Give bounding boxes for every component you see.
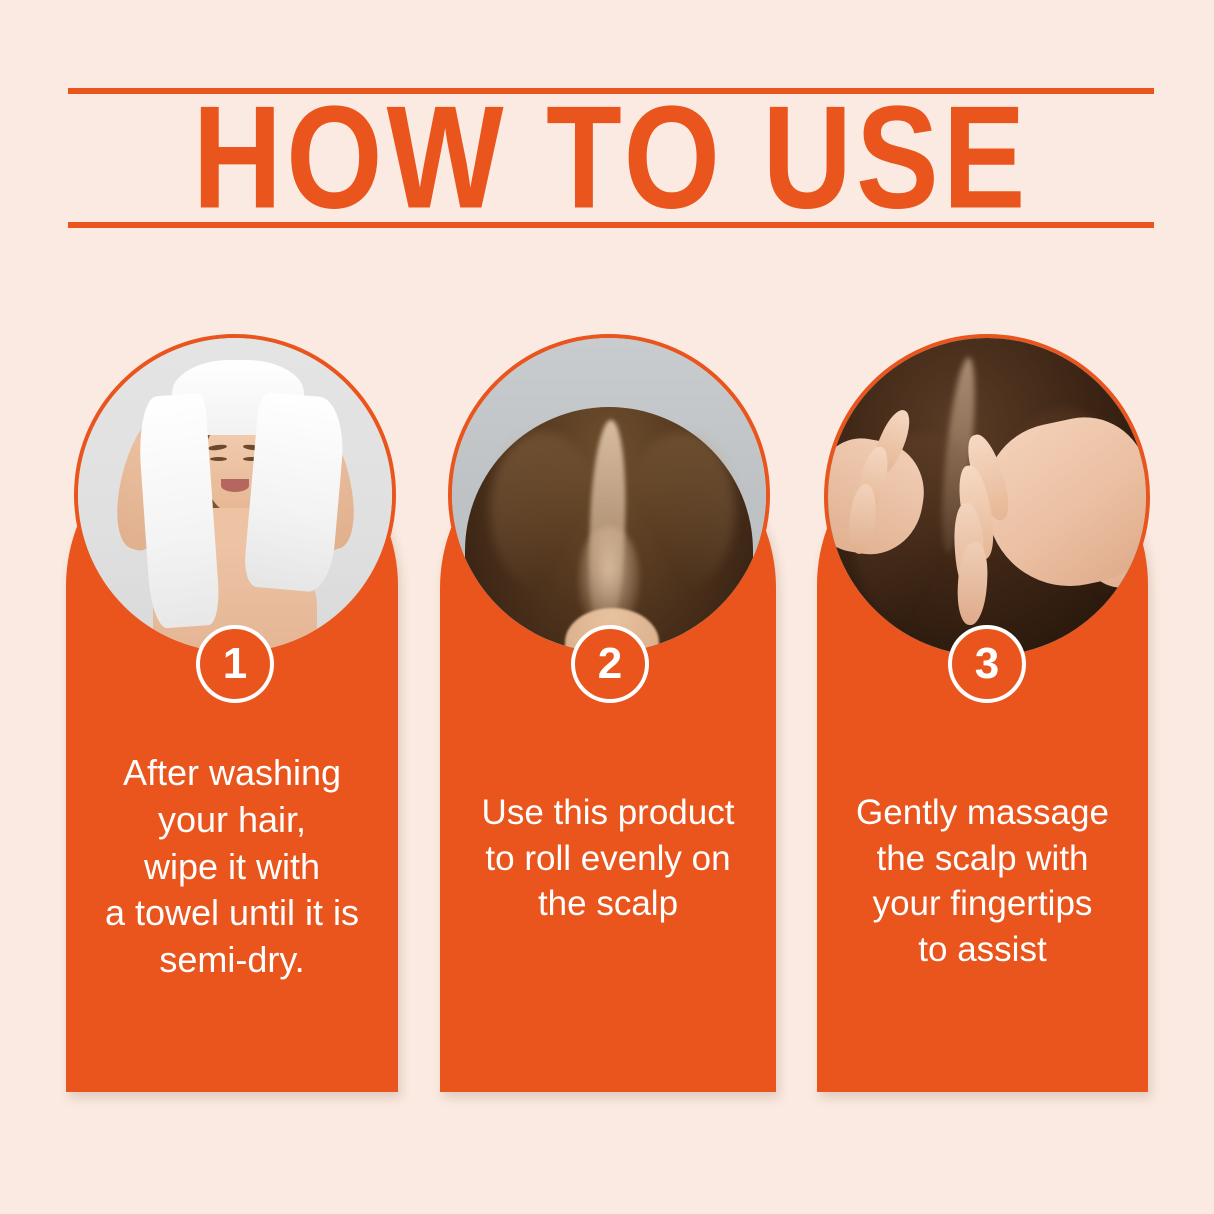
scalp-massage-image (828, 338, 1146, 656)
step-number-badge-3: 3 (948, 625, 1026, 703)
towel-drying-hair-image (78, 338, 392, 652)
steps-container: After washing your hair, wipe it with a … (0, 0, 1214, 1214)
step-2-photo (448, 334, 770, 656)
scalp-parting-image (452, 338, 766, 652)
step-1-text: After washing your hair, wipe it with a … (66, 750, 398, 984)
step-number-badge-2: 2 (571, 625, 649, 703)
step-1-photo (74, 334, 396, 656)
step-number-badge-1: 1 (196, 625, 274, 703)
step-3-text: Gently massage the scalp with your finge… (817, 790, 1148, 972)
step-3-photo (824, 334, 1150, 660)
step-2-text: Use this product to roll evenly on the s… (440, 790, 776, 927)
